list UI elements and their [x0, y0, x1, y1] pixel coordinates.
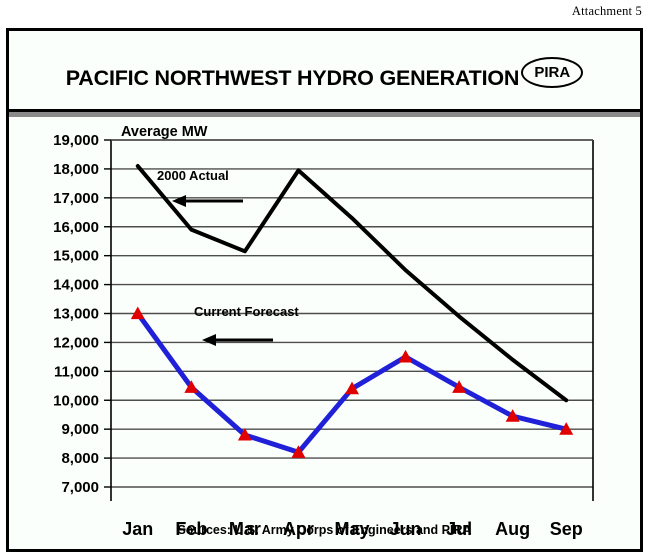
- y-tick-label: 8,000: [61, 450, 99, 467]
- title-inner: PACIFIC NORTHWEST HYDRO GENERATIONPIRA: [9, 57, 640, 100]
- y-tick-label: 9,000: [61, 421, 99, 438]
- line-chart: 7,0008,0009,00010,00011,00012,00013,0001…: [9, 117, 640, 549]
- chart-page: Attachment 5 PACIFIC NORTHWEST HYDRO GEN…: [0, 0, 650, 558]
- y-tick-label: 18,000: [53, 161, 99, 178]
- annotation-actual-label: 2000 Actual: [157, 168, 229, 183]
- y-axis-tick-labels: 7,0008,0009,00010,00011,00012,00013,0001…: [53, 132, 99, 496]
- source-note: Sources: U.S. Army Corps of Engineers an…: [9, 523, 640, 537]
- gridlines: [104, 140, 593, 501]
- y-tick-label: 13,000: [53, 306, 99, 323]
- pira-logo: PIRA: [521, 57, 583, 88]
- page-title: PACIFIC NORTHWEST HYDRO GENERATION: [66, 66, 519, 90]
- y-tick-label: 11,000: [54, 363, 99, 380]
- y-tick-label: 7,000: [61, 479, 99, 496]
- y-tick-label: 14,000: [53, 277, 99, 294]
- plot-area: Average MW 7,0008,0009,00010,00011,00012…: [9, 117, 640, 549]
- annotation-forecast-label: Current Forecast: [194, 304, 299, 319]
- y-tick-label: 15,000: [53, 248, 99, 265]
- y-tick-label: 10,000: [53, 392, 99, 409]
- annotation-actual-arrow: [172, 195, 243, 207]
- y-tick-label: 16,000: [53, 219, 99, 236]
- attachment-label: Attachment 5: [572, 4, 642, 19]
- data-point-marker: [131, 307, 145, 320]
- annotation-forecast-arrow: [202, 334, 273, 346]
- y-tick-label: 12,000: [53, 334, 99, 351]
- data-point-marker: [399, 350, 413, 363]
- chart-frame: PACIFIC NORTHWEST HYDRO GENERATIONPIRA A…: [6, 28, 643, 552]
- y-tick-label: 17,000: [53, 190, 99, 207]
- title-box: PACIFIC NORTHWEST HYDRO GENERATIONPIRA: [9, 31, 640, 112]
- y-tick-label: 19,000: [53, 132, 99, 149]
